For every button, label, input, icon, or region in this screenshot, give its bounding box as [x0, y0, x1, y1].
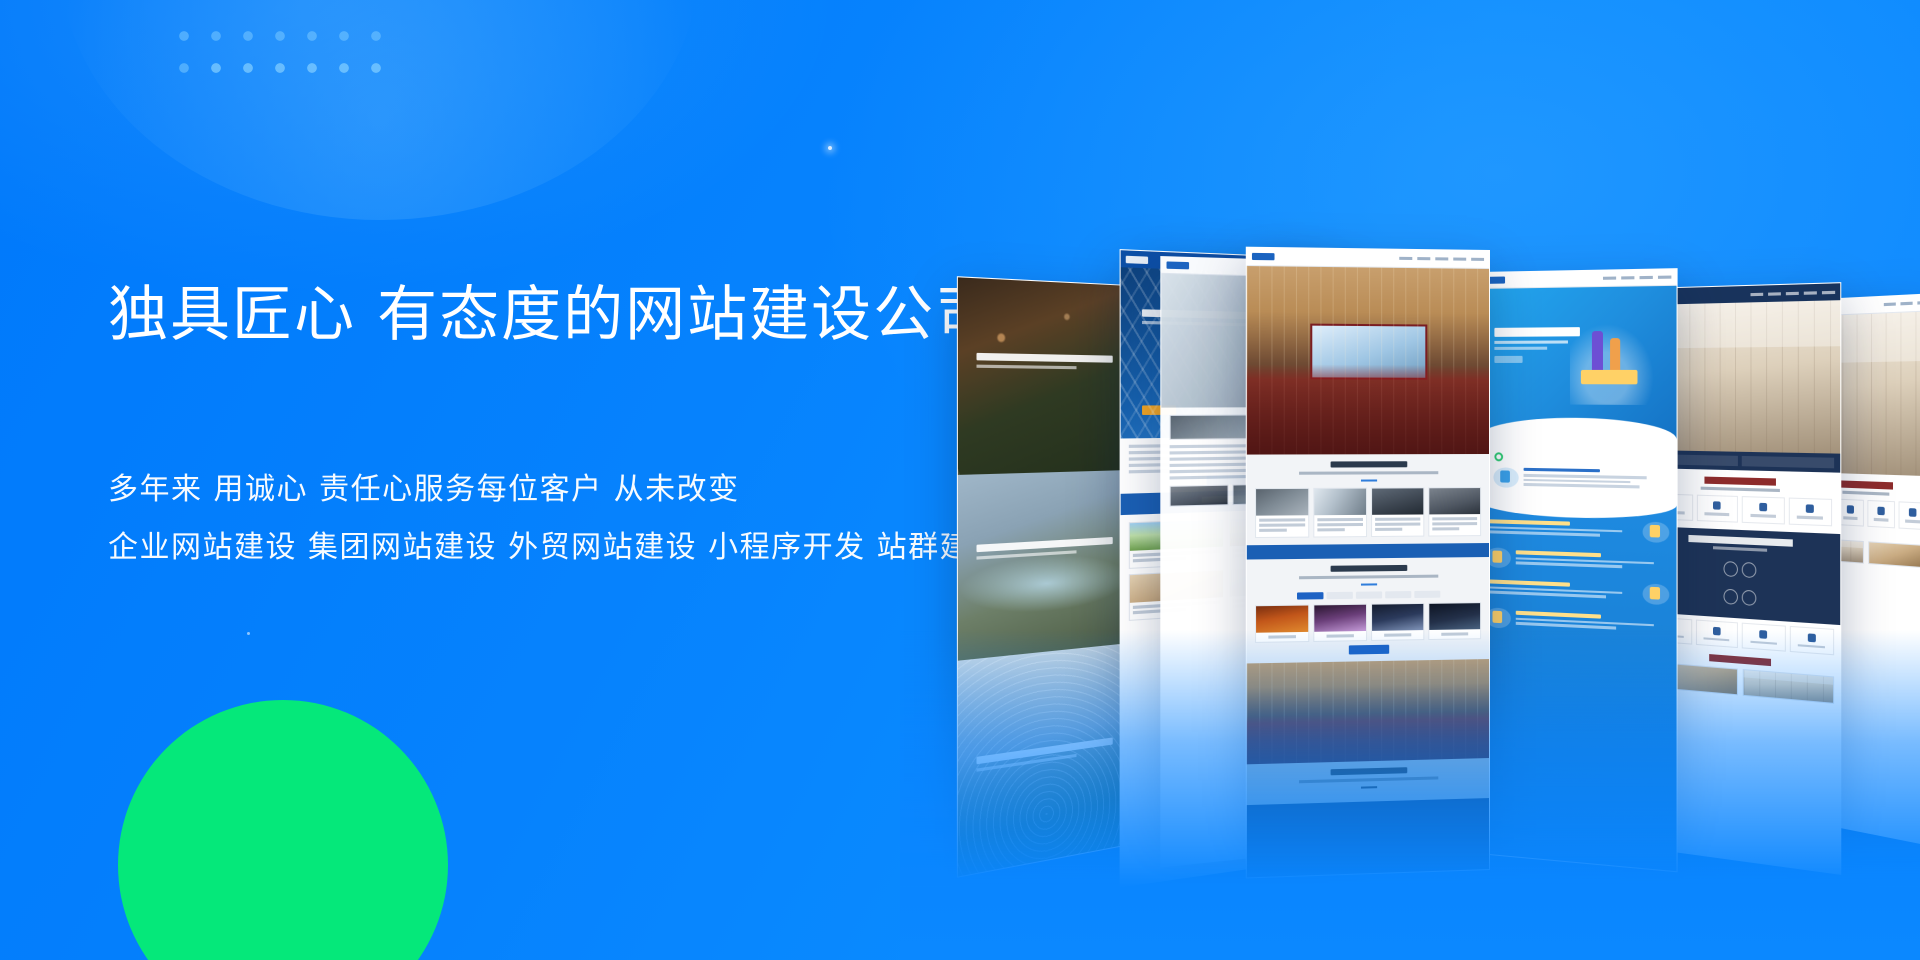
- sparkle-icon: [828, 146, 832, 150]
- mockup-feature-item[interactable]: [1789, 625, 1834, 655]
- mockup-section-title: [1704, 477, 1776, 486]
- mockup-hero-dome: [958, 643, 1129, 876]
- mockup-feature-item[interactable]: [1899, 502, 1920, 530]
- mockup-card[interactable]: [1371, 603, 1424, 641]
- page-title: 独具匠心 有态度的网站建设公司: [108, 278, 988, 353]
- mockup-nav-links: [1603, 276, 1671, 280]
- mockup-section-title: [1331, 767, 1408, 775]
- mockup-card[interactable]: [1868, 541, 1920, 568]
- mockup-card[interactable]: [1255, 605, 1309, 643]
- mockup-section-advantages: [1247, 454, 1489, 545]
- mockup-product-tabs[interactable]: [1255, 591, 1481, 601]
- mockup-screen-english[interactable]: [1478, 268, 1678, 872]
- hero-banner: 独具匠心 有态度的网站建设公司 多年来 用诚心 责任心服务每位客户 从未改变 企…: [0, 0, 1920, 960]
- mockup-logo: [1252, 253, 1275, 260]
- mockup-card[interactable]: [1313, 488, 1367, 538]
- mockup-section-products: [1247, 557, 1489, 663]
- mockup-card[interactable]: [1428, 603, 1481, 641]
- mockup-section-title: [1331, 565, 1408, 572]
- mockup-card[interactable]: [1428, 487, 1481, 536]
- mockup-card[interactable]: [1255, 488, 1309, 538]
- hero-copy: 独具匠心 有态度的网站建设公司 多年来 用诚心 责任心服务每位客户 从未改变 企…: [108, 278, 988, 573]
- mockup-card[interactable]: [1742, 669, 1834, 704]
- mockup-more-button[interactable]: [1349, 645, 1389, 655]
- mockup-service-advantages: [1479, 500, 1677, 871]
- mockup-hero-river: [958, 470, 1129, 661]
- circle-check-icon: [1494, 452, 1503, 461]
- mockup-screen-auditorium[interactable]: [1246, 247, 1490, 879]
- green-rounded-blob: [50, 632, 517, 960]
- mockup-section-title: [1688, 534, 1792, 546]
- dot-grid-pattern-row1: [168, 20, 398, 74]
- mockup-hero-illustration: [1479, 286, 1677, 443]
- mockup-nav-links: [1750, 290, 1835, 295]
- hero-sublines: 多年来 用诚心 责任心服务每位客户 从未改变 企业网站建设 集团网站建设 外贸网…: [108, 465, 988, 573]
- mockup-section-title: [1331, 462, 1408, 468]
- mockup-card[interactable]: [1313, 604, 1367, 642]
- mockup-brand-intro: [1479, 440, 1677, 505]
- dot-grid-pattern-row2: [200, 52, 400, 78]
- mockup-hero-auditorium: [1247, 266, 1489, 455]
- mockup-section-stage-products: [1247, 758, 1489, 805]
- mockup-feature-item[interactable]: [1742, 496, 1785, 524]
- mockup-screen-aerial[interactable]: [957, 276, 1130, 878]
- mockup-feature-item[interactable]: [1867, 500, 1894, 528]
- mockup-card[interactable]: [1170, 485, 1229, 507]
- mockup-nav-links: [1884, 301, 1920, 306]
- mockup-hero-auditorium-2: [1247, 659, 1489, 764]
- mockup-feature-item[interactable]: [1742, 622, 1786, 652]
- mockup-feature-item[interactable]: [1788, 498, 1832, 526]
- mockup-footer: [1247, 798, 1489, 877]
- soft-light-arc: [60, 0, 700, 220]
- mockup-logo: [1126, 255, 1148, 263]
- mockup-card[interactable]: [1371, 488, 1424, 538]
- mockup-section-title: [1839, 481, 1894, 490]
- mockup-hero-aerial: [958, 277, 1129, 475]
- sparkle-small-icon: [247, 632, 250, 635]
- hero-subline-1: 多年来 用诚心 责任心服务每位客户 从未改变: [108, 465, 988, 515]
- mockup-feature-item[interactable]: [1696, 495, 1737, 523]
- mockup-section-title: [1709, 654, 1771, 666]
- mockup-logo: [1167, 261, 1190, 269]
- website-mockup-fan: [900, 0, 1920, 960]
- mockup-nav-links: [1399, 257, 1484, 261]
- hero-subline-2: 企业网站建设 集团网站建设 外贸网站建设 小程序开发 站群建设: [108, 523, 988, 573]
- mockup-feature-item[interactable]: [1695, 619, 1737, 648]
